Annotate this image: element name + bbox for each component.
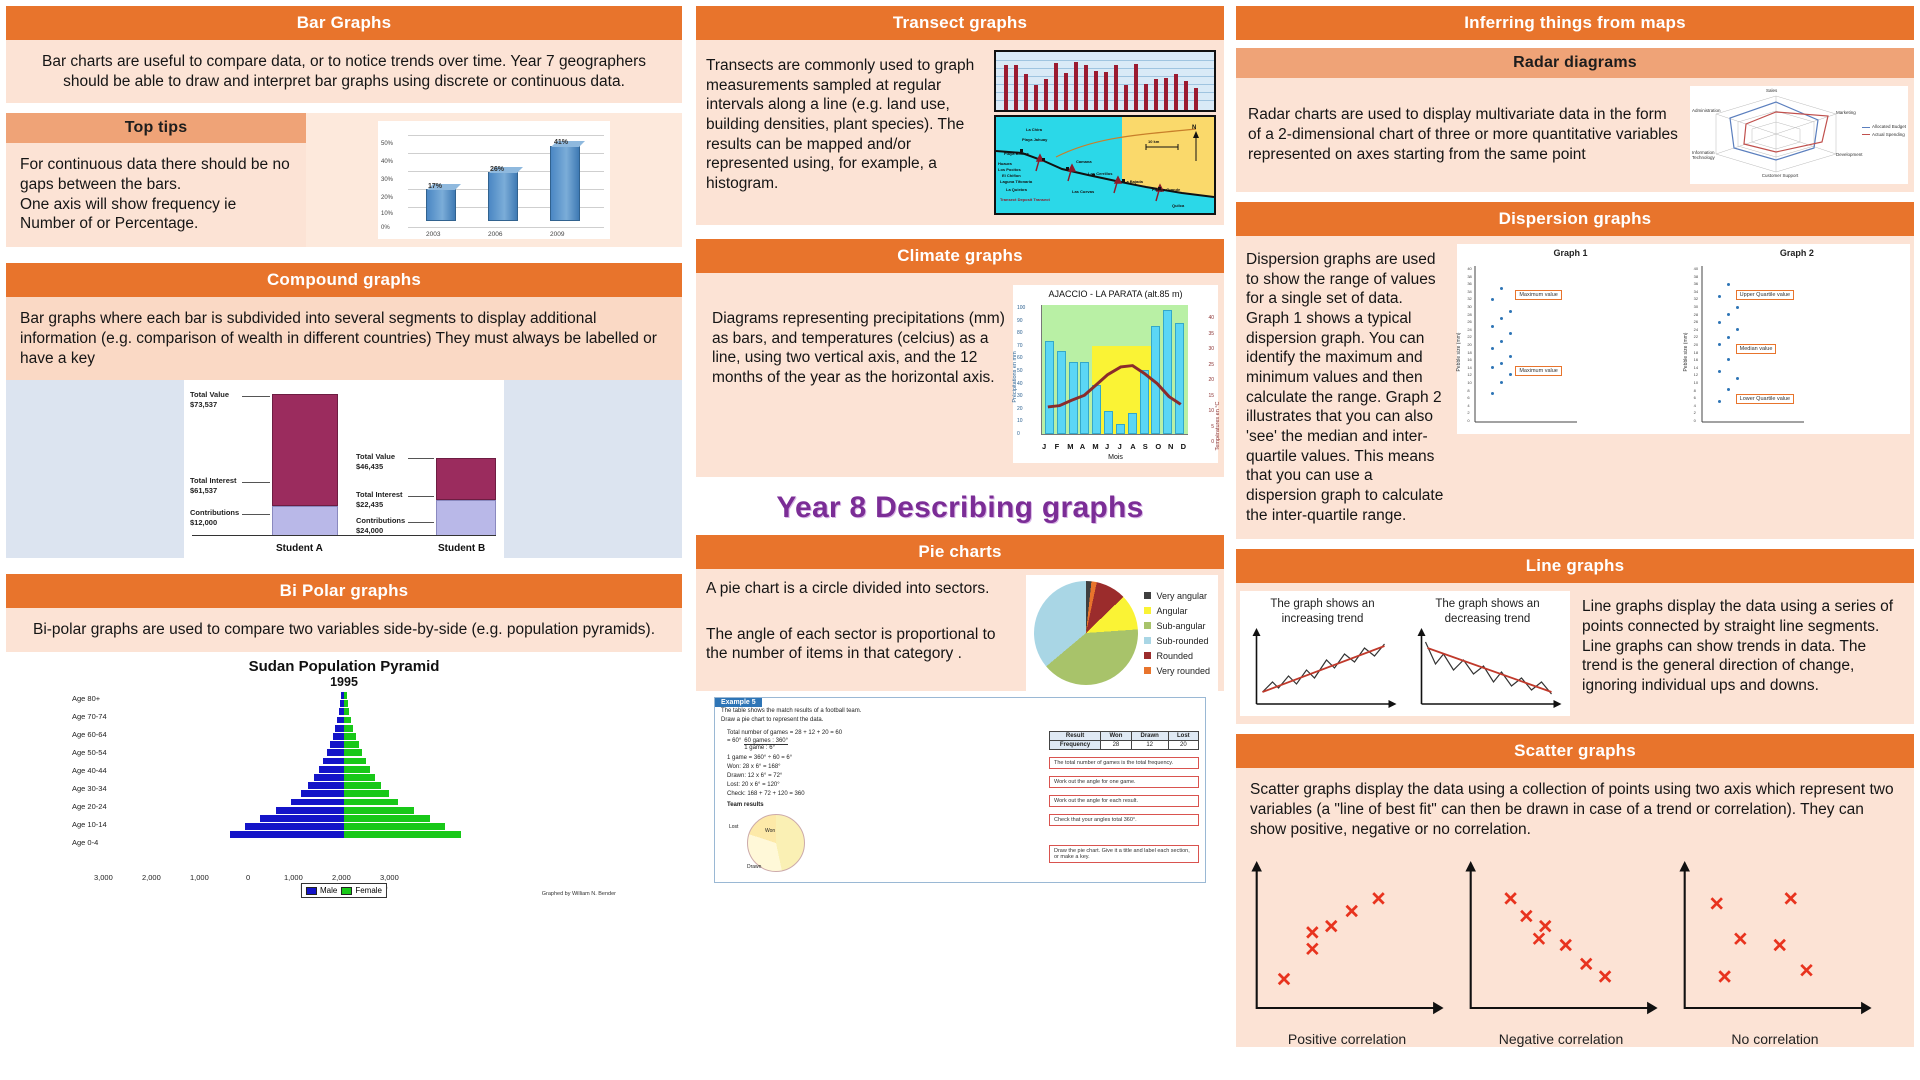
middle-column: Transect graphs Transects are commonly u… <box>690 0 1230 1080</box>
pyramid-age-label: Age 40-44 <box>72 766 107 775</box>
dispersion-ytick: 22 <box>1694 334 1698 339</box>
dispersion-ytick: 4 <box>1694 403 1696 408</box>
transect-bar <box>1134 64 1138 110</box>
pyramid-bar-female <box>344 733 356 740</box>
climate-chart-title: AJACCIO - LA PARATA (alt.85 m) <box>1013 285 1218 299</box>
dispersion-point <box>1500 362 1503 365</box>
pie-legend-label: Rounded <box>1156 651 1193 661</box>
map-place-label: Los Pocitos <box>998 167 1021 172</box>
dispersion-ytick: 20 <box>1467 342 1471 347</box>
pyramid-x-tick: 3,000 <box>94 873 113 882</box>
dispersion-ytick: 0 <box>1467 418 1469 423</box>
pyramid-bar-female <box>344 692 347 699</box>
climate-ytick-left: 20 <box>1017 406 1023 412</box>
dispersion-point <box>1500 317 1503 320</box>
pyramid-bar-female <box>344 700 348 707</box>
dispersion-ytick: 16 <box>1467 357 1471 362</box>
dispersion-ytick: 2 <box>1467 410 1469 415</box>
pyramid-bar-male <box>327 749 344 756</box>
dispersion-ytick: 30 <box>1467 304 1471 309</box>
radar-legend-label: Allocated Budget <box>1872 124 1906 129</box>
top-tips-heading: Top tips <box>6 113 306 143</box>
example-note: Check that your angles total 360°. <box>1049 814 1199 826</box>
transect-bar <box>1064 73 1068 110</box>
transect-figure: La Chira Playa Jahuay Playa Blanca Huaur… <box>994 50 1216 215</box>
compound-stacked-bar: Total Value $73,537 Total Interest $61,5… <box>6 380 682 558</box>
section-scatter-graphs: Scatter graphs Scatter graphs display th… <box>1236 734 1914 1047</box>
example-team-results: Team results <box>721 801 1045 810</box>
increasing-trend-line <box>1240 626 1405 716</box>
dispersion-callout: Lower Quartile value <box>1736 394 1794 404</box>
dispersion-ytick: 8 <box>1694 388 1696 393</box>
section-dispersion-graphs: Dispersion graphs Dispersion graphs are … <box>1236 202 1914 539</box>
dispersion-ytick: 24 <box>1467 327 1471 332</box>
transect-text: Transects are commonly used to graph mea… <box>702 50 988 215</box>
pyramid-bar-male <box>276 807 344 814</box>
dispersion-callout: Maximum value <box>1515 366 1562 376</box>
cg-total-label: Total Value <box>190 390 229 399</box>
dispersion-ytick: 26 <box>1694 319 1698 324</box>
radar-axis-label: Sales <box>1766 88 1777 93</box>
dispersion-point <box>1736 328 1739 331</box>
pyramid-bar-female <box>344 831 461 838</box>
cg-interest-label: Total Interest <box>356 490 403 499</box>
pyramid-x-tick: 2,000 <box>142 873 161 882</box>
climate-ytick-left: 100 <box>1017 305 1025 311</box>
climate-ytick-right: 0 <box>1211 439 1214 445</box>
pie-legend-label: Sub-rounded <box>1156 636 1208 646</box>
pyramid-bar-male <box>308 782 344 789</box>
budget-radar-chart: Sales Marketing Development Customer Sup… <box>1690 86 1908 184</box>
top-tips-text: For continuous data there should be no g… <box>6 143 306 246</box>
radar-legend-swatch <box>1862 134 1870 135</box>
pie-legend-swatch <box>1144 607 1151 614</box>
transect-bar <box>1194 88 1198 110</box>
radar-legend-label: Actual Spending <box>1872 132 1905 137</box>
pie-text-2: The angle of each sector is proportional… <box>696 603 1026 674</box>
legend-label-female: Female <box>355 886 382 895</box>
bar-x-label: 2006 <box>488 231 502 238</box>
dispersion-ytick: 36 <box>1467 281 1471 286</box>
transect-bar <box>1174 74 1178 110</box>
dispersion-ytick: 10 <box>1467 380 1471 385</box>
dispersion-point <box>1509 310 1512 313</box>
climate-ylabel-right: Températures en °C <box>1215 401 1221 450</box>
radar-legend-swatch <box>1862 127 1870 128</box>
pyramid-bar-male <box>319 766 344 773</box>
table-cell: 28 <box>1101 741 1132 750</box>
map-place-label: Quilca <box>1172 203 1184 208</box>
transect-bar <box>1074 62 1078 110</box>
climate-ytick-right: 20 <box>1208 377 1214 383</box>
scatter-heading: Scatter graphs <box>1236 734 1914 768</box>
table-row: Frequency 28 12 20 <box>1050 741 1199 750</box>
dispersion-callout: Median value <box>1736 344 1777 354</box>
example-note: The total number of games is the total f… <box>1049 757 1199 769</box>
cg-total-value: $73,537 <box>190 400 217 409</box>
cg-category-label: Student A <box>276 543 323 554</box>
map-place-label: La Chira <box>1026 127 1042 132</box>
decreasing-trend-line <box>1405 626 1570 716</box>
pyramid-age-label: Age 50-54 <box>72 748 107 757</box>
pyramid-bar-female <box>344 749 362 756</box>
example-prompt-1: The table shows the match results of a f… <box>715 707 1205 716</box>
pyramid-x-tick: 0 <box>246 873 250 882</box>
section-bar-graphs: Bar Graphs Bar charts are useful to comp… <box>6 6 682 247</box>
top-tips-chart-area: 50% 40% 30% 20% 10% 0% <box>306 113 682 247</box>
pyramid-age-label: Age 20-24 <box>72 802 107 811</box>
dispersion-ytick: 28 <box>1694 312 1698 317</box>
dispersion-axis-label: Pebble size (mm) <box>1683 332 1689 371</box>
radar-legend: Allocated Budget Actual Spending <box>1862 123 1906 138</box>
pyramid-x-tick: 1,000 <box>284 873 303 882</box>
climate-ytick-left: 0 <box>1017 431 1020 437</box>
radar-heading: Radar diagrams <box>1236 48 1914 78</box>
climate-ytick-right: 15 <box>1208 393 1214 399</box>
pie-legend-label: Very rounded <box>1156 666 1210 676</box>
pie-circle <box>1034 581 1138 685</box>
cg-contrib-value: $24,000 <box>356 526 383 535</box>
climate-ytick-left: 80 <box>1017 330 1023 336</box>
example-line-game: 1 game = 360° ÷ 60 = 6° <box>721 754 1045 763</box>
pie-legend-swatch <box>1144 637 1151 644</box>
dispersion-ytick: 24 <box>1694 327 1698 332</box>
dispersion-point <box>1718 343 1721 346</box>
map-place-label: La Bajada <box>1124 179 1143 184</box>
transect-bar <box>1114 65 1118 111</box>
dispersion-point <box>1491 298 1494 301</box>
dispersion-point <box>1500 287 1503 290</box>
scatter-caption: Negative correlation <box>1456 1031 1666 1047</box>
section-compound-graphs: Compound graphs Bar graphs where each ba… <box>6 263 682 558</box>
dispersion-ytick: 38 <box>1467 274 1471 279</box>
dispersion-point <box>1491 325 1494 328</box>
transect-bar <box>1104 72 1108 110</box>
dispersion-ytick: 26 <box>1467 319 1471 324</box>
dispersion-graph-1: Graph 1 Pebble size (mm) 403836343230282… <box>1457 244 1683 434</box>
line-graphs-heading: Line graphs <box>1236 549 1914 583</box>
dispersion-point <box>1509 373 1512 376</box>
map-place-label: Laguna Tifonaria <box>1000 179 1032 184</box>
dispersion-ytick: 2 <box>1694 410 1696 415</box>
pyramid-bar-female <box>344 807 414 814</box>
dispersion-point <box>1727 358 1730 361</box>
climate-ytick-right: 25 <box>1208 362 1214 368</box>
dispersion-ytick: 38 <box>1694 274 1698 279</box>
climate-ytick-right: 30 <box>1208 346 1214 352</box>
transect-bar <box>1024 74 1028 110</box>
pyramid-bar-male <box>330 741 344 748</box>
example-line-won: Won: 28 x 6° = 168° <box>721 763 1045 772</box>
dispersion-point <box>1727 336 1730 339</box>
dispersion-ytick: 6 <box>1694 395 1696 400</box>
pie-legend-label: Sub-angular <box>1156 621 1205 631</box>
dispersion-point <box>1727 283 1730 286</box>
map-scale-label: 10 km <box>1148 139 1159 144</box>
page-title: Year 8 Describing graphs <box>696 477 1224 535</box>
map-place-label: La Quiebra <box>1006 187 1027 192</box>
climate-month-label: J <box>1042 442 1046 451</box>
example-pie-label: Lost <box>729 824 738 830</box>
dispersion-ytick: 18 <box>1694 350 1698 355</box>
bar-value-label: 41% <box>554 139 568 146</box>
pyramid-bar-female <box>344 782 381 789</box>
pie-legend-label: Very angular <box>1156 591 1207 601</box>
dispersion-ytick: 4 <box>1467 403 1469 408</box>
pyramid-x-tick: 1,000 <box>190 873 209 882</box>
climate-month-label: J <box>1105 442 1109 451</box>
legend-swatch-female <box>341 887 352 895</box>
pyramid-bar-male <box>323 758 344 765</box>
transect-bar <box>1014 65 1018 110</box>
transect-bar <box>1004 65 1008 110</box>
compound-graphs-text: Bar graphs where each bar is subdivided … <box>6 297 682 380</box>
section-climate-graphs: Climate graphs Diagrams representing pre… <box>696 239 1224 477</box>
example-pie-label: Won <box>765 828 775 834</box>
dispersion-ytick: 36 <box>1694 281 1698 286</box>
climate-ytick-left: 50 <box>1017 368 1023 374</box>
dispersion-callout: Upper Quartile value <box>1736 290 1794 300</box>
dispersion-callout: Maximum value <box>1515 290 1562 300</box>
climate-month-label: D <box>1181 442 1186 451</box>
dispersion-text: Dispersion graphs are used to show the r… <box>1240 244 1453 531</box>
dispersion-point <box>1509 332 1512 335</box>
ajaccio-climate-graph: AJACCIO - LA PARATA (alt.85 m) Précipita… <box>1013 285 1218 463</box>
example-pie-label: Drawn <box>747 864 761 870</box>
radar-axis-label: Development <box>1836 152 1863 157</box>
climate-xlabel: Mois <box>1013 454 1218 461</box>
transect-histogram <box>994 50 1216 112</box>
dispersion-point <box>1718 400 1721 403</box>
pyramid-x-tick: 3,000 <box>380 873 399 882</box>
negative-correlation-scatter <box>1456 861 1666 1029</box>
example-note: Work out the angle for one game. <box>1049 776 1199 788</box>
bar-graphs-heading: Bar Graphs <box>6 6 682 40</box>
climate-ytick-right: 10 <box>1208 408 1214 414</box>
dispersion-ytick: 40 <box>1467 266 1471 271</box>
climate-month-label: M <box>1092 442 1098 451</box>
map-place-label: El Chiflon <box>1002 173 1021 178</box>
pyramid-title: Sudan Population Pyramid <box>66 652 622 675</box>
transect-bar <box>1094 71 1098 110</box>
dispersion-ytick: 30 <box>1694 304 1698 309</box>
climate-month-label: N <box>1168 442 1173 451</box>
left-column: Bar Graphs Bar charts are useful to comp… <box>0 0 690 1080</box>
climate-month-label: F <box>1055 442 1060 451</box>
pyramid-bar-male <box>333 733 344 740</box>
map-place-label: Las Cuevas <box>1072 189 1094 194</box>
dispersion-graphs-figure: Graph 1 Pebble size (mm) 403836343230282… <box>1457 244 1910 434</box>
cg-contrib-label: Contributions <box>356 516 405 525</box>
example-line-check: Check: 168 + 72 + 120 = 360 <box>721 790 1045 799</box>
pyramid-bar-female <box>344 766 370 773</box>
cg-contrib-label: Contributions <box>190 508 239 517</box>
dispersion-ytick: 16 <box>1694 357 1698 362</box>
decreasing-trend-caption: The graph shows an decreasing trend <box>1405 591 1570 626</box>
cg-contrib-value: $12,000 <box>190 518 217 527</box>
dispersion-point <box>1500 381 1503 384</box>
climate-ytick-left: 60 <box>1017 355 1023 361</box>
dispersion-heading: Dispersion graphs <box>1236 202 1914 236</box>
pyramid-bar-male <box>230 831 344 838</box>
map-place-label: Pampa Grande <box>1152 187 1180 192</box>
dispersion-ytick: 18 <box>1467 350 1471 355</box>
pyramid-age-label: Age 30-34 <box>72 784 107 793</box>
climate-plot-area <box>1041 305 1188 435</box>
climate-month-label: O <box>1155 442 1161 451</box>
transect-bar <box>1164 78 1168 110</box>
line-graphs-text: Line graphs display the data using a ser… <box>1576 591 1910 716</box>
pyramid-bar-female <box>344 708 349 715</box>
pie-legend-swatch <box>1144 667 1151 674</box>
table-header: Won <box>1101 732 1132 741</box>
pyramid-bar-female <box>344 799 398 806</box>
climate-month-label: M <box>1067 442 1073 451</box>
poster-root: Bar Graphs Bar charts are useful to comp… <box>0 0 1920 1080</box>
dispersion-ytick: 32 <box>1467 296 1471 301</box>
radar-axis-label: Marketing <box>1836 110 1856 115</box>
legend-swatch-male <box>306 887 317 895</box>
map-key-label: Transect Deposit Transect <box>1000 197 1050 202</box>
bipolar-graphs-heading: Bi Polar graphs <box>6 574 682 608</box>
example-line-lost: Lost: 20 x 6° = 120° <box>721 781 1045 790</box>
dispersion-ytick: 6 <box>1467 395 1469 400</box>
transect-bar <box>1054 63 1058 110</box>
section-line-graphs: Line graphs The graph shows an increasin… <box>1236 549 1914 724</box>
example-note: Draw the pie chart. Give it a title and … <box>1049 845 1199 863</box>
dispersion-ytick: 12 <box>1467 372 1471 377</box>
worked-example-card: Example 5 The table shows the match resu… <box>714 697 1206 883</box>
map-north-label: N <box>1192 125 1196 131</box>
dispersion-ytick: 40 <box>1694 266 1698 271</box>
pie-legend-swatch <box>1144 652 1151 659</box>
radar-axis-label: Customer Support <box>1760 173 1800 178</box>
pyramid-bar-male <box>337 717 344 724</box>
dispersion-point <box>1718 295 1721 298</box>
radar-text: Radar charts are used to display multiva… <box>1242 101 1684 168</box>
pie-legend-swatch <box>1144 622 1151 629</box>
maps-heading: Inferring things from maps <box>1236 6 1914 40</box>
dispersion-point <box>1736 377 1739 380</box>
example-line-calc1: = 60° <box>727 738 741 751</box>
climate-month-label: S <box>1143 442 1148 451</box>
example-tag: Example 5 <box>715 698 762 707</box>
pie-legend: Very angular Angular Sub-angular Sub-rou… <box>1144 591 1210 676</box>
top-tips-bar-chart: 50% 40% 30% 20% 10% 0% <box>378 121 610 239</box>
pyramid-bar-female <box>344 741 359 748</box>
climate-month-label: J <box>1118 442 1122 451</box>
pyramid-bar-male <box>260 815 344 822</box>
table-cell: 20 <box>1168 741 1198 750</box>
dispersion-ytick: 0 <box>1694 418 1696 423</box>
climate-ytick-left: 40 <box>1017 381 1023 387</box>
climate-ytick-right: 40 <box>1208 315 1214 321</box>
scatter-figures: Positive correlation Negative correlatio… <box>1236 851 1914 1047</box>
dispersion-ytick: 34 <box>1694 289 1698 294</box>
dispersion-graph-2-title: Graph 2 <box>1684 244 1910 258</box>
transect-bar <box>1084 65 1088 110</box>
pyramid-bar-female <box>344 717 351 724</box>
map-place-label: Playa Blanca <box>1004 151 1029 156</box>
climate-ytick-left: 70 <box>1017 343 1023 349</box>
table-header: Result <box>1050 732 1101 741</box>
example-line-drawn: Drawn: 12 x 6° = 72° <box>721 772 1045 781</box>
transect-bar <box>1034 85 1038 110</box>
dispersion-graph-2: Graph 2 Pebble size (mm) 403836343230282… <box>1684 244 1910 434</box>
pyramid-age-label: Age 0-4 <box>72 838 98 847</box>
climate-month-label: A <box>1130 442 1135 451</box>
example-note: Work out the angle for each result. <box>1049 795 1199 807</box>
map-place-label: Playa Jahuay <box>1022 137 1047 142</box>
dispersion-ytick: 12 <box>1694 372 1698 377</box>
dispersion-ytick: 20 <box>1694 342 1698 347</box>
table-header: Drawn <box>1131 732 1168 741</box>
cg-interest-value: $61,537 <box>190 486 217 495</box>
pyramid-age-label: Age 80+ <box>72 694 100 703</box>
bar-value-label: 17% <box>428 183 442 190</box>
transect-bar <box>1184 81 1188 110</box>
bar-value-label: 26% <box>490 166 504 173</box>
pyramid-bar-male <box>291 799 344 806</box>
roundness-pie-chart: Very angular Angular Sub-angular Sub-rou… <box>1026 575 1218 691</box>
table-cell: Frequency <box>1050 741 1101 750</box>
pyramid-bar-female <box>344 823 445 830</box>
positive-correlation-scatter <box>1242 861 1452 1029</box>
climate-ytick-left: 10 <box>1017 418 1023 424</box>
dispersion-point <box>1491 366 1494 369</box>
dispersion-point <box>1718 321 1721 324</box>
climate-ytick-right: 5 <box>1211 424 1214 430</box>
sudan-population-pyramid: Sudan Population Pyramid 1995 Age 80+ Ag… <box>66 652 622 902</box>
dispersion-ytick: 14 <box>1467 365 1471 370</box>
climate-heading: Climate graphs <box>696 239 1224 273</box>
map-place-label: Camana <box>1076 159 1092 164</box>
pyramid-x-tick: 2,000 <box>332 873 351 882</box>
example-line-calc3: 1 game : 6° <box>744 744 788 751</box>
dispersion-point <box>1491 347 1494 350</box>
section-radar-diagrams: Radar diagrams Radar charts are used to … <box>1236 48 1914 192</box>
cg-total-label: Total Value <box>356 452 395 461</box>
climate-ytick-left: 30 <box>1017 393 1023 399</box>
dispersion-point <box>1491 392 1494 395</box>
radar-axis-label: Administration <box>1692 108 1721 113</box>
right-column: Inferring things from maps Radar diagram… <box>1230 0 1920 1080</box>
map-place-label: Huaura <box>998 161 1012 166</box>
pyramid-age-label: Age 70-74 <box>72 712 107 721</box>
pyramid-bar-female <box>344 725 353 732</box>
climate-ytick-left: 90 <box>1017 318 1023 324</box>
increasing-trend-caption: The graph shows an increasing trend <box>1240 591 1405 626</box>
transect-map: La Chira Playa Jahuay Playa Blanca Huaur… <box>994 115 1216 215</box>
compound-graphs-heading: Compound graphs <box>6 263 682 297</box>
pyramid-bar-male <box>314 774 344 781</box>
bar-x-label: 2009 <box>550 231 564 238</box>
pyramid-bar-female <box>344 790 389 797</box>
transect-bar <box>1124 85 1128 110</box>
cg-category-label: Student B <box>438 543 485 554</box>
pie-charts-heading: Pie charts <box>696 535 1224 569</box>
climate-ytick-right: 35 <box>1208 331 1214 337</box>
pyramid-age-label: Age 10-14 <box>72 820 107 829</box>
example-line-total: Total number of games = 28 + 12 + 20 = 6… <box>721 729 1045 738</box>
pyramid-subtitle: 1995 <box>66 675 622 689</box>
transect-heading: Transect graphs <box>696 6 1224 40</box>
transect-bar <box>1144 84 1148 110</box>
dispersion-ytick: 14 <box>1694 365 1698 370</box>
football-results-table: Result Won Drawn Lost Frequency 28 12 20 <box>1049 731 1199 750</box>
dispersion-ytick: 28 <box>1467 312 1471 317</box>
dispersion-ytick: 22 <box>1467 334 1471 339</box>
